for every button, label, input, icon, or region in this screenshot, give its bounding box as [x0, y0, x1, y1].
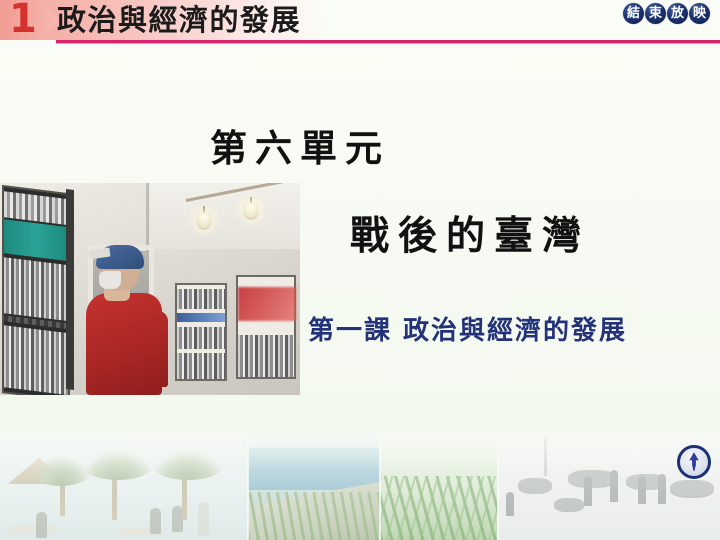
down-arrow-icon	[685, 452, 703, 472]
lesson-main-title: 戰後的臺灣	[350, 205, 590, 261]
hillside-grass	[380, 476, 498, 540]
slide-header: 1 政治與經濟的發展	[0, 0, 720, 44]
end-show-char-2: 束	[645, 3, 666, 24]
photo-lamp-2	[243, 203, 259, 220]
header-divider-shadow	[56, 43, 720, 44]
end-show-char-1: 結	[623, 3, 644, 24]
slide-canvas: 1 政治與經濟的發展 結 束 放 映 第六單元 戰後的臺灣 第一課 政治與經濟的…	[0, 0, 720, 540]
unit-title: 第六單元	[210, 118, 390, 172]
photo-lamp-1	[196, 213, 212, 230]
museum-exhibition-photo	[0, 183, 300, 395]
photo-red-poster	[238, 287, 296, 321]
photo-exhibit-panel-middle	[175, 283, 227, 381]
header-number: 1	[9, 0, 37, 41]
end-show-char-3: 放	[667, 3, 688, 24]
page-title: 政治與經濟的發展	[57, 1, 301, 39]
sea	[248, 448, 380, 490]
green-hillside-photo	[380, 430, 498, 540]
bottom-photo-band	[0, 430, 720, 540]
next-slide-button[interactable]	[677, 445, 711, 479]
photo-person-mask	[99, 271, 121, 289]
snow-field-pole	[544, 436, 547, 476]
coastal-grass	[248, 492, 380, 540]
photo-exhibit-panel-left	[2, 185, 70, 395]
coastline-photo	[248, 430, 380, 540]
photo-person-jacket	[86, 293, 162, 395]
photo-exhibit-panel-left-edge	[66, 189, 74, 390]
beach-palms-photo	[0, 430, 248, 540]
end-show-char-4: 映	[689, 3, 710, 24]
header-number-badge: 1	[0, 0, 58, 40]
lesson-subtitle: 第一課 政治與經濟的發展	[308, 310, 627, 347]
end-show-button[interactable]: 結 束 放 映	[623, 3, 710, 24]
